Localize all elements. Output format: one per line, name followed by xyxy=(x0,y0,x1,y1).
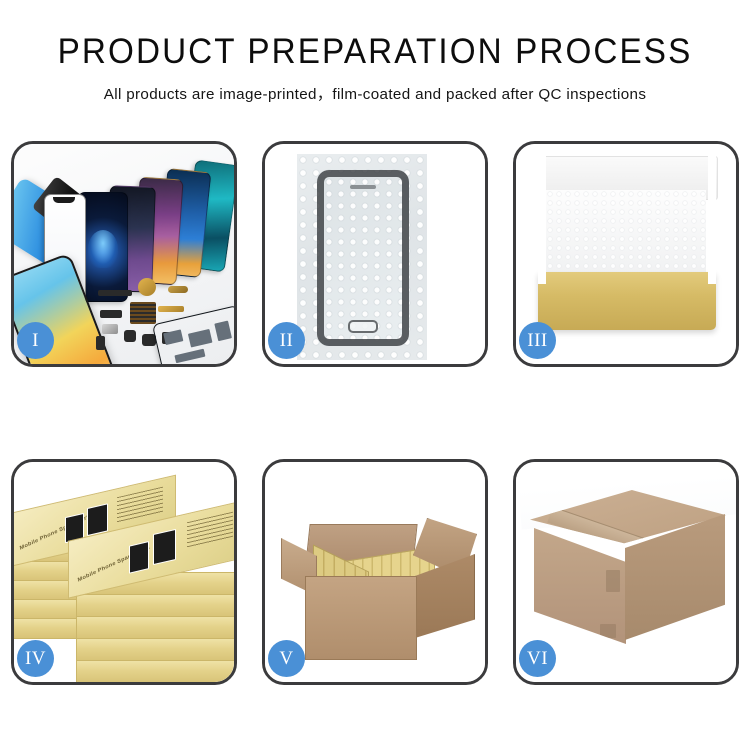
earpiece-slot-icon xyxy=(350,185,376,189)
carton-front-face xyxy=(305,576,417,660)
page-title: PRODUCT PREPARATION PROCESS xyxy=(19,34,732,71)
sim-tray-icon xyxy=(96,336,105,350)
step-panel-4[interactable]: Mobile Phone Spare Parts Mobile Phone Sp… xyxy=(11,459,237,685)
step-panel-5[interactable]: V xyxy=(262,459,488,685)
box-spec-lines-front xyxy=(187,512,233,549)
stacked-box-front-4 xyxy=(76,594,234,618)
home-button-slot-icon xyxy=(348,320,378,333)
step-badge-4: IV xyxy=(17,640,54,677)
wallpaper-graphic xyxy=(88,230,118,268)
button-flex-icon xyxy=(168,286,188,293)
speaker-coil-icon xyxy=(138,278,156,296)
step-badge-3: III xyxy=(519,322,556,359)
wrapped-screen-graphic xyxy=(317,170,409,346)
stacked-box-front-1 xyxy=(76,660,234,682)
step-panel-1[interactable]: I xyxy=(11,141,237,367)
phone-fan-graphic xyxy=(72,162,232,282)
step-badge-6: VI xyxy=(519,640,556,677)
step-panel-2[interactable]: II xyxy=(262,141,488,367)
stacked-box-front-3 xyxy=(76,616,234,640)
box-artwork-screen-d xyxy=(153,529,176,565)
open-carton-graphic xyxy=(277,496,479,664)
carton-left-face xyxy=(534,528,626,644)
page-subtitle: All products are image-printed，film-coat… xyxy=(0,82,750,104)
stacked-box-front-2 xyxy=(76,638,234,662)
step-panel-3[interactable]: III xyxy=(513,141,739,367)
step-badge-2: II xyxy=(268,322,305,359)
process-row-top: I II xyxy=(11,141,739,367)
carton-hand-hole-upper xyxy=(606,570,620,592)
page-header: PRODUCT PREPARATION PROCESS All products… xyxy=(0,0,750,104)
logic-board-icon xyxy=(152,305,234,364)
box-spec-lines-rear xyxy=(117,487,163,524)
step-panel-6[interactable]: VI xyxy=(513,459,739,685)
step-badge-5: V xyxy=(268,640,305,677)
flex-cable-icon xyxy=(98,290,132,296)
antenna-flex-icon xyxy=(158,306,184,312)
sealed-carton-graphic xyxy=(530,490,726,658)
step-badge-1: I xyxy=(17,322,54,359)
process-step-grid: I II xyxy=(11,141,739,685)
carton-hand-hole-lower xyxy=(600,624,616,638)
foam-insert-graphic xyxy=(546,190,706,278)
camera-module-icon xyxy=(124,330,136,342)
kraft-box-tray-graphic xyxy=(538,272,716,330)
home-button-icon xyxy=(100,310,122,318)
box-artwork-screen-c xyxy=(129,541,149,574)
process-row-bottom: Mobile Phone Spare Parts Mobile Phone Sp… xyxy=(11,459,739,685)
connector-array-icon xyxy=(130,302,156,324)
bracket-icon xyxy=(102,324,118,334)
bubble-wrap-photo xyxy=(297,154,427,360)
spare-parts-group xyxy=(94,276,234,364)
